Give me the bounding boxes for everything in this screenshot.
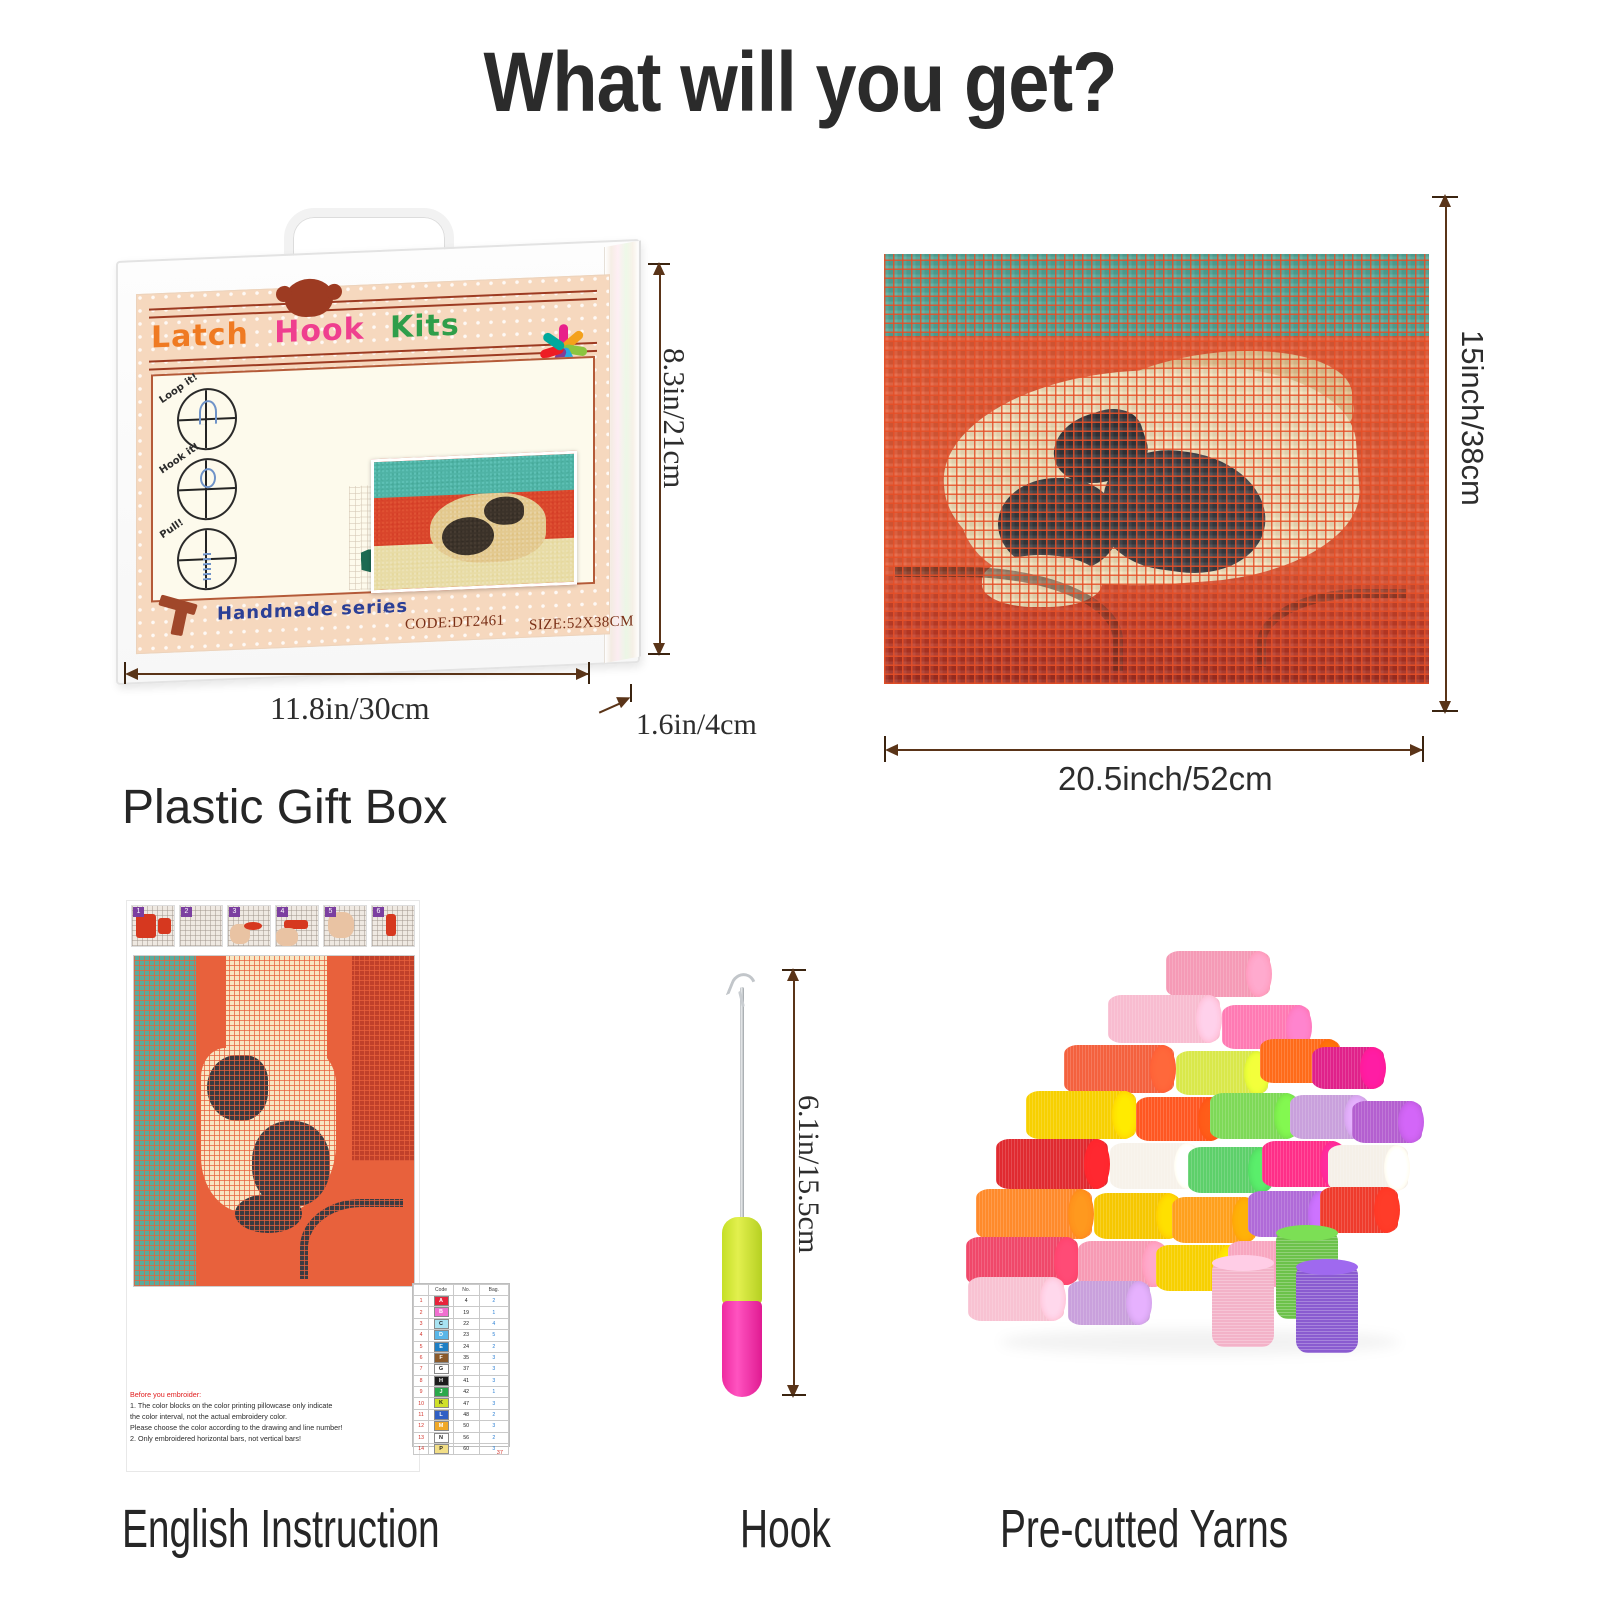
box-step-diagram-pull bbox=[177, 527, 237, 592]
legend-cell-no: 22 bbox=[453, 1318, 479, 1329]
pinwheel-logo-icon bbox=[531, 296, 587, 352]
legend-cell-bag: 3 bbox=[479, 1364, 508, 1375]
legend-color-swatch: C bbox=[434, 1319, 449, 1329]
instruction-thumb: 1 bbox=[131, 905, 175, 947]
legend-row: 11L482 bbox=[414, 1409, 509, 1420]
box-width-value: 11.8in/30cm bbox=[270, 690, 430, 727]
gift-box-caption: Plastic Gift Box bbox=[122, 780, 447, 835]
english-instruction-sheet: 1 2 3 4 5 bbox=[126, 900, 420, 1472]
canvas-height-value: 15inch/38cm bbox=[1454, 330, 1490, 506]
legend-cell-bag: 2 bbox=[479, 1341, 508, 1352]
legend-cell-no: 4 bbox=[453, 1296, 479, 1307]
legend-cell-no: 60 bbox=[453, 1443, 479, 1454]
legend-row: 12M503 bbox=[414, 1421, 509, 1432]
legend-row: 3C224 bbox=[414, 1318, 509, 1329]
legend-cell-code: F bbox=[429, 1352, 454, 1363]
notes-line: Please choose the color according to the… bbox=[130, 1423, 416, 1434]
box-depth-value: 1.6in/4cm bbox=[636, 708, 757, 742]
page-title: What will you get? bbox=[96, 34, 1504, 131]
thumb-number: 1 bbox=[133, 907, 144, 917]
color-legend-table: Code No. Bag. 1A422B1913C2244D2355E2426F… bbox=[412, 1283, 510, 1447]
legend-cell-no: 19 bbox=[453, 1307, 479, 1318]
instruction-thumb: 2 bbox=[179, 905, 223, 947]
legend-table: Code No. Bag. 1A422B1913C2244D2355E2426F… bbox=[413, 1284, 509, 1455]
legend-row: 14P603 bbox=[414, 1443, 509, 1454]
legend-cell-bag: 1 bbox=[479, 1387, 508, 1398]
legend-cell-no: 41 bbox=[453, 1375, 479, 1386]
legend-row: 10K473 bbox=[414, 1398, 509, 1409]
legend-cell-bag: 1 bbox=[479, 1307, 508, 1318]
legend-cell-index: 7 bbox=[414, 1364, 429, 1375]
box-series-mark: ” bbox=[383, 607, 387, 622]
instruction-thumbnail-strip: 1 2 3 4 5 bbox=[131, 905, 415, 947]
box-step-diagram-loop bbox=[177, 387, 237, 452]
legend-row: 5E242 bbox=[414, 1341, 509, 1352]
box-step-label-pull: Pull! bbox=[158, 517, 186, 541]
thumb-number: 2 bbox=[181, 907, 192, 917]
legend-cell-no: 47 bbox=[453, 1398, 479, 1409]
legend-cell-bag: 2 bbox=[479, 1296, 508, 1307]
hook-collar bbox=[722, 1217, 762, 1305]
latch-hook-tool-image bbox=[700, 965, 790, 1395]
yarns-caption: Pre-cutted Yarns bbox=[1000, 1498, 1288, 1560]
instruction-thumb: 4 bbox=[275, 905, 319, 947]
hook-handle bbox=[722, 1301, 762, 1397]
brand-word-kits: Kits bbox=[390, 308, 460, 346]
box-finished-rug-photo bbox=[371, 451, 577, 594]
legend-cell-code: G bbox=[429, 1364, 454, 1375]
legend-cell-index: 4 bbox=[414, 1330, 429, 1341]
legend-color-swatch: K bbox=[434, 1398, 449, 1408]
printed-canvas-image bbox=[884, 254, 1429, 684]
instruction-thumb: 6 bbox=[371, 905, 415, 947]
legend-cell-no: 23 bbox=[453, 1330, 479, 1341]
legend-cell-index: 8 bbox=[414, 1375, 429, 1386]
thumb-number: 5 bbox=[325, 907, 336, 917]
hook-needle bbox=[740, 987, 744, 1233]
instruction-thumb: 3 bbox=[227, 905, 271, 947]
legend-cell-no: 24 bbox=[453, 1341, 479, 1352]
legend-cell-code: D bbox=[429, 1330, 454, 1341]
legend-color-swatch: J bbox=[434, 1387, 449, 1397]
legend-cell-bag: 2 bbox=[479, 1432, 508, 1443]
box-series-label: Handmade series bbox=[217, 596, 408, 625]
legend-row: 4D235 bbox=[414, 1330, 509, 1341]
legend-cell-bag: 2 bbox=[479, 1409, 508, 1420]
thumb-number: 6 bbox=[373, 907, 384, 917]
instruction-color-chart bbox=[133, 955, 415, 1287]
legend-cell-no: 42 bbox=[453, 1387, 479, 1398]
thumb-number: 3 bbox=[229, 907, 240, 917]
notes-line: 2. Only embroidered horizontal bars, not… bbox=[130, 1434, 416, 1445]
thumb-number: 4 bbox=[277, 907, 288, 917]
legend-color-swatch: B bbox=[434, 1307, 449, 1317]
legend-row: 6F353 bbox=[414, 1352, 509, 1363]
legend-cell-bag: 3 bbox=[479, 1421, 508, 1432]
legend-row: 8H413 bbox=[414, 1375, 509, 1386]
legend-cell-code: J bbox=[429, 1387, 454, 1398]
legend-cell-bag: 3 bbox=[479, 1398, 508, 1409]
legend-cell-bag: 3 bbox=[479, 1443, 508, 1454]
box-body: Latch Hook Kits Loop it! bbox=[116, 239, 640, 685]
legend-col-bag: Bag. bbox=[479, 1285, 508, 1296]
hook-caption: Hook bbox=[740, 1498, 831, 1560]
brand-word-hook: Hook bbox=[274, 312, 364, 351]
gift-box-image: Latch Hook Kits Loop it! bbox=[112, 200, 652, 680]
legend-color-swatch: D bbox=[434, 1330, 449, 1340]
legend-cell-code: C bbox=[429, 1318, 454, 1329]
legend-cell-index: 14 bbox=[414, 1443, 429, 1454]
legend-cell-bag: 3 bbox=[479, 1352, 508, 1363]
legend-color-swatch: L bbox=[434, 1410, 449, 1420]
infographic-page: What will you get? Latch Hook Kits bbox=[0, 0, 1600, 1600]
legend-cell-no: 56 bbox=[453, 1432, 479, 1443]
box-tool-ornament-icon bbox=[157, 596, 209, 638]
brand-word-latch: Latch bbox=[151, 316, 249, 355]
legend-color-swatch: G bbox=[434, 1364, 449, 1374]
legend-row: 2B191 bbox=[414, 1307, 509, 1318]
notes-line: the color interval, not the actual embro… bbox=[130, 1412, 416, 1423]
instruction-thumb: 5 bbox=[323, 905, 367, 947]
box-front-artwork: Latch Hook Kits Loop it! bbox=[136, 274, 610, 654]
legend-color-swatch: E bbox=[434, 1342, 449, 1352]
notes-heading: Before you embroider: bbox=[130, 1390, 416, 1401]
legend-total: 37 bbox=[497, 1450, 503, 1456]
legend-cell-index: 2 bbox=[414, 1307, 429, 1318]
legend-cell-code: K bbox=[429, 1398, 454, 1409]
instruction-caption: English Instruction bbox=[122, 1498, 440, 1560]
legend-col-code: Code bbox=[429, 1285, 454, 1296]
notes-line: 1. The color blocks on the color printin… bbox=[130, 1401, 416, 1412]
legend-color-swatch: F bbox=[434, 1353, 449, 1363]
legend-cell-no: 48 bbox=[453, 1409, 479, 1420]
legend-cell-bag: 5 bbox=[479, 1330, 508, 1341]
legend-cell-index: 6 bbox=[414, 1352, 429, 1363]
legend-cell-index: 5 bbox=[414, 1341, 429, 1352]
legend-row: 9J421 bbox=[414, 1387, 509, 1398]
legend-row: 7G373 bbox=[414, 1364, 509, 1375]
legend-cell-code: M bbox=[429, 1421, 454, 1432]
legend-cell-code: H bbox=[429, 1375, 454, 1386]
legend-color-swatch: P bbox=[434, 1444, 449, 1454]
legend-cell-index: 1 bbox=[414, 1296, 429, 1307]
legend-cell-code: L bbox=[429, 1409, 454, 1420]
legend-cell-code: A bbox=[429, 1296, 454, 1307]
legend-col-no: No. bbox=[453, 1285, 479, 1296]
canvas-mesh bbox=[884, 254, 1429, 684]
legend-col-index bbox=[414, 1285, 429, 1296]
legend-cell-no: 35 bbox=[453, 1352, 479, 1363]
legend-color-swatch: N bbox=[434, 1433, 449, 1443]
legend-row: 13N562 bbox=[414, 1432, 509, 1443]
pre-cut-yarns-image bbox=[960, 935, 1440, 1365]
legend-cell-index: 3 bbox=[414, 1318, 429, 1329]
box-scallop-ornament bbox=[285, 278, 333, 318]
legend-cell-no: 37 bbox=[453, 1364, 479, 1375]
legend-cell-no: 50 bbox=[453, 1421, 479, 1432]
box-step-diagram-hook bbox=[177, 457, 237, 522]
legend-color-swatch: M bbox=[434, 1421, 449, 1431]
legend-cell-code: E bbox=[429, 1341, 454, 1352]
box-code-label: CODE:DT2461 bbox=[405, 613, 504, 634]
box-instruction-panel: Loop it! Hook it! Pull! bbox=[151, 356, 595, 603]
canvas-width-value: 20.5inch/52cm bbox=[1058, 760, 1273, 798]
legend-cell-bag: 4 bbox=[479, 1318, 508, 1329]
legend-color-swatch: H bbox=[434, 1376, 449, 1386]
hook-length-value: 6.1in/15.5cm bbox=[791, 1095, 825, 1253]
legend-row: 1A42 bbox=[414, 1296, 509, 1307]
legend-header-row: Code No. Bag. bbox=[414, 1285, 509, 1296]
legend-color-swatch: A bbox=[434, 1296, 449, 1306]
instruction-notes: Before you embroider: 1. The color block… bbox=[130, 1390, 416, 1445]
legend-cell-bag: 3 bbox=[479, 1375, 508, 1386]
legend-cell-code: N bbox=[429, 1432, 454, 1443]
legend-cell-code: B bbox=[429, 1307, 454, 1318]
box-height-value: 8.3in/21cm bbox=[656, 348, 692, 488]
legend-cell-code: P bbox=[429, 1443, 454, 1454]
